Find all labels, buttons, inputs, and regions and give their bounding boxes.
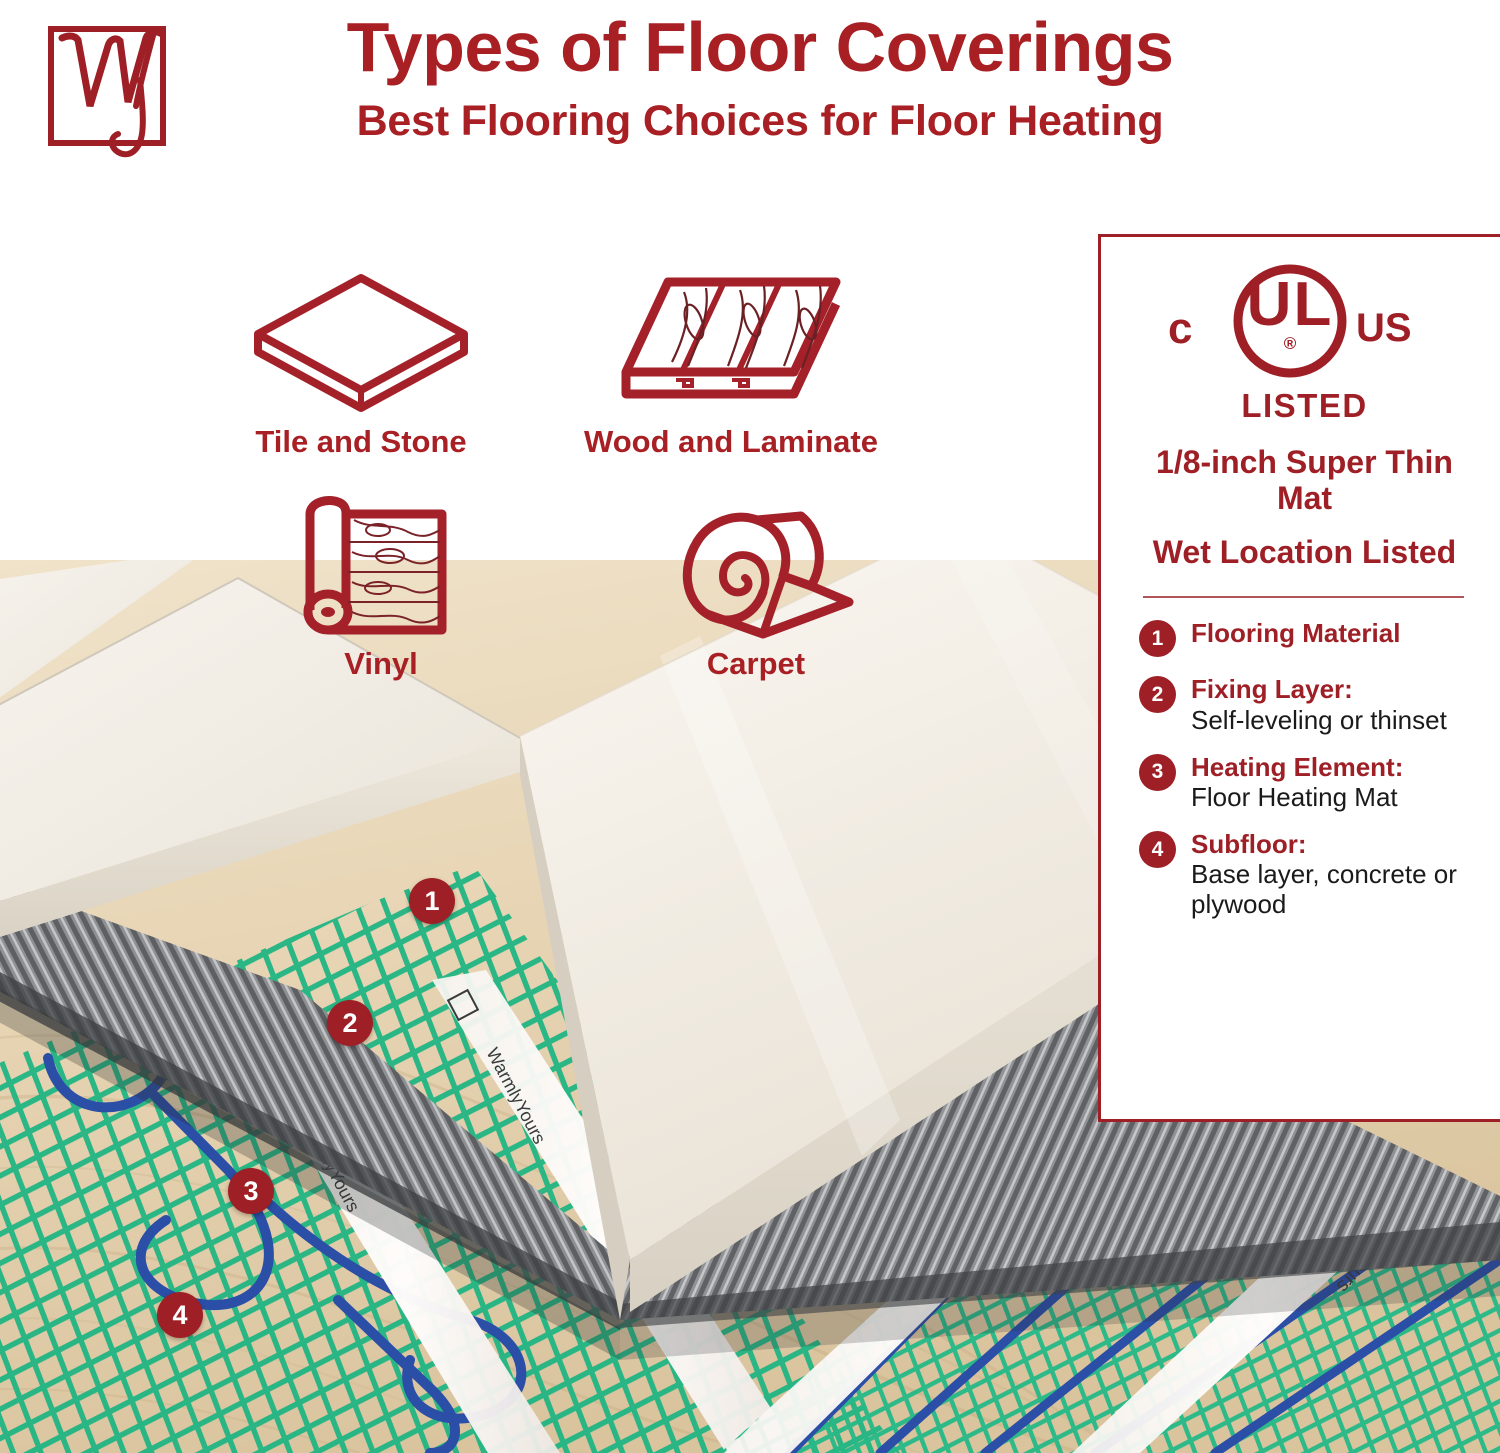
scene-marker-4[interactable]: 4 <box>157 1292 203 1338</box>
covering-carpet[interactable]: Carpet <box>626 490 886 682</box>
ul-logo-row: c UL ® US <box>1160 263 1450 385</box>
legend-desc: Floor Heating Mat <box>1191 782 1403 812</box>
legend-item-2[interactable]: 2 Fixing Layer: Self-leveling or thinset <box>1139 674 1470 734</box>
legend-title: Subfloor: <box>1191 829 1470 859</box>
ul-us-letters: US <box>1356 306 1412 350</box>
legend-badge-3: 3 <box>1139 754 1176 791</box>
legend-text-1: Flooring Material <box>1191 618 1400 648</box>
infographic-root: WarmlyYours WarmlyYours <box>0 0 1500 1453</box>
title-block: Types of Floor Coverings Best Flooring C… <box>260 12 1260 146</box>
covering-label: Tile and Stone <box>236 424 486 460</box>
legend-title: Heating Element: <box>1191 752 1403 782</box>
covering-label: Carpet <box>626 646 886 682</box>
legend-text-2: Fixing Layer: Self-leveling or thinset <box>1191 674 1447 734</box>
ul-listed-mark: c UL ® US LISTED <box>1139 263 1470 425</box>
ul-letters: UL <box>1246 270 1333 339</box>
legend-badge-1: 1 <box>1139 620 1176 657</box>
header: Types of Floor Coverings Best Flooring C… <box>0 0 1500 195</box>
page-subtitle: Best Flooring Choices for Floor Heating <box>260 97 1260 146</box>
legend-text-4: Subfloor: Base layer, concrete or plywoo… <box>1191 829 1470 919</box>
ul-registered-symbol: ® <box>1283 334 1296 353</box>
legend-text-3: Heating Element: Floor Heating Mat <box>1191 752 1403 812</box>
legend-title: Flooring Material <box>1191 618 1400 648</box>
covering-label: Wood and Laminate <box>536 424 926 460</box>
legend-title: Fixing Layer: <box>1191 674 1447 704</box>
carpet-roll-icon <box>626 490 886 640</box>
scene-marker-3[interactable]: 3 <box>228 1168 274 1214</box>
scene-marker-2[interactable]: 2 <box>327 1000 373 1046</box>
ul-certification-panel: c UL ® US LISTED 1/8-inch Super Thin Mat… <box>1098 234 1500 1122</box>
panel-headline-wet-location: Wet Location Listed <box>1139 535 1470 571</box>
covering-wood-and-laminate[interactable]: Wood and Laminate <box>536 268 926 460</box>
legend-item-4[interactable]: 4 Subfloor: Base layer, concrete or plyw… <box>1139 829 1470 919</box>
wy-monogram-logo <box>44 10 194 160</box>
page-title: Types of Floor Coverings <box>260 12 1260 83</box>
ul-c-letter: c <box>1168 304 1192 353</box>
covering-label: Vinyl <box>256 646 506 682</box>
legend-desc: Base layer, concrete or plywood <box>1191 859 1470 919</box>
scene-marker-1[interactable]: 1 <box>409 878 455 924</box>
wood-plank-icon <box>536 268 926 418</box>
covering-vinyl[interactable]: Vinyl <box>256 490 506 682</box>
vinyl-roll-icon <box>256 490 506 640</box>
c-ul-us-icon: c UL ® US <box>1160 263 1450 385</box>
covering-tile-and-stone[interactable]: Tile and Stone <box>236 268 486 460</box>
legend-item-1[interactable]: 1 Flooring Material <box>1139 618 1470 657</box>
legend-desc: Self-leveling or thinset <box>1191 705 1447 735</box>
legend-badge-4: 4 <box>1139 831 1176 868</box>
ul-listed-word: LISTED <box>1241 387 1367 425</box>
legend-badge-2: 2 <box>1139 676 1176 713</box>
panel-headline-thin-mat: 1/8-inch Super Thin Mat <box>1139 445 1470 517</box>
legend-item-3[interactable]: 3 Heating Element: Floor Heating Mat <box>1139 752 1470 812</box>
tile-slab-icon <box>236 268 486 418</box>
panel-divider <box>1143 596 1464 598</box>
